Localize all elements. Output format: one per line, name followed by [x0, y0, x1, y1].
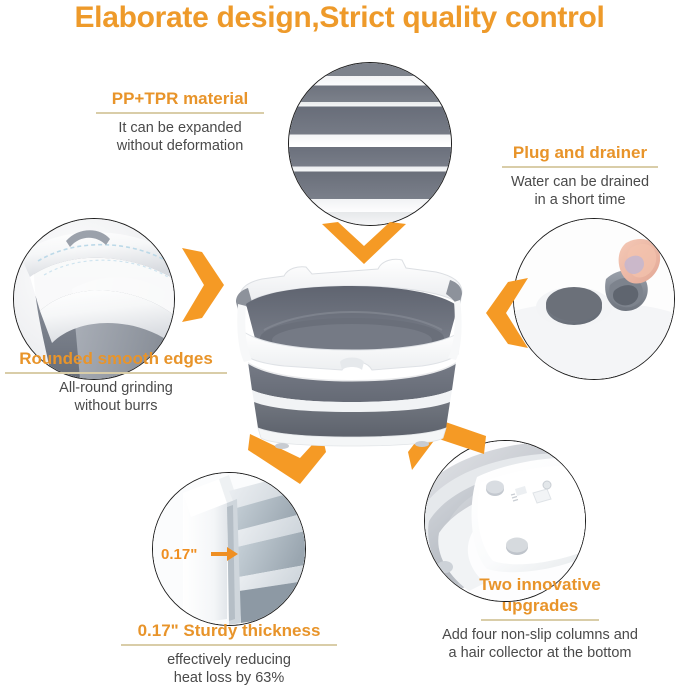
feature-two-innovative-upgrades: Two innovative upgrades Add four non-sli… — [404, 574, 676, 662]
feature-line-1: All-round grinding — [0, 379, 232, 397]
heading-underline — [481, 619, 599, 621]
heading-underline — [5, 372, 227, 374]
thickness-arrow-icon — [211, 545, 239, 563]
inset-drain-plug — [513, 218, 675, 380]
heading-underline — [121, 644, 337, 646]
thickness-measurement-label: 0.17" — [161, 546, 197, 563]
feature-rounded-smooth-edges: Rounded smooth edges All-round grinding … — [0, 348, 232, 415]
feature-line-1: Water can be drained — [482, 173, 678, 191]
arrow-left-from-drainer — [486, 278, 530, 348]
feature-heading: PP+TPR material — [73, 88, 287, 109]
heading-underline — [502, 166, 658, 168]
feature-heading: Rounded smooth edges — [0, 348, 232, 369]
drain-plug-photo — [514, 219, 674, 379]
feature-line-2: a hair collector at the bottom — [404, 644, 676, 662]
feature-pp-tpr-material: PP+TPR material It can be expanded witho… — [73, 88, 287, 155]
striped-material-photo — [289, 63, 451, 225]
inset-wall-thickness: 0.17" — [152, 472, 306, 626]
infographic-canvas: Elaborate design,Strict quality control … — [0, 0, 679, 688]
feature-line-2: without deformation — [73, 137, 287, 155]
feature-heading-line-1: Two innovative — [404, 574, 676, 595]
arrow-right-from-edges — [180, 248, 224, 322]
feature-line-2: in a short time — [482, 191, 678, 209]
heading-underline — [96, 112, 264, 114]
feature-line-1: Add four non-slip columns and — [404, 626, 676, 644]
wall-cross-section-photo: 0.17" — [153, 473, 305, 625]
feature-sturdy-thickness: 0.17" Sturdy thickness effectively reduc… — [100, 620, 358, 687]
feature-line-2: heat loss by 63% — [100, 669, 358, 687]
feature-line-1: effectively reducing — [100, 651, 358, 669]
feature-heading-line-2: upgrades — [404, 595, 676, 616]
feature-heading: Plug and drainer — [482, 142, 678, 163]
feature-plug-and-drainer: Plug and drainer Water can be drained in… — [482, 142, 678, 209]
feature-line-2: without burrs — [0, 397, 232, 415]
feature-line-1: It can be expanded — [73, 119, 287, 137]
product-collapsible-basket — [222, 250, 478, 450]
feature-heading: 0.17" Sturdy thickness — [100, 620, 358, 641]
inset-striped-material — [288, 62, 452, 226]
page-title: Elaborate design,Strict quality control — [0, 1, 679, 35]
